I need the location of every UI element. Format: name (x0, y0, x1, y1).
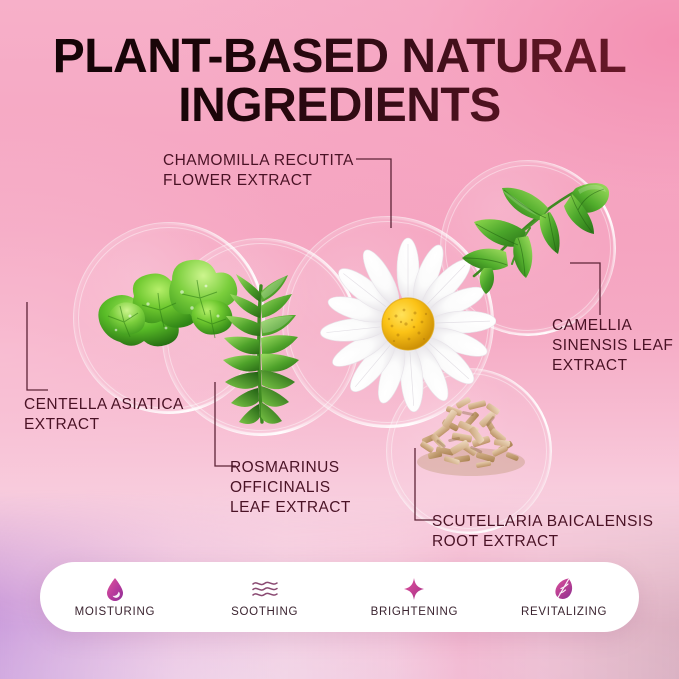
benefit-item-brightening[interactable]: BRIGHTENING (340, 577, 490, 618)
specimen-root-chips (406, 386, 536, 486)
benefit-item-moisturing[interactable]: MOISTURING (40, 577, 190, 618)
specimen-tea-leaves (452, 176, 610, 296)
leaf-icon (553, 577, 575, 601)
ingredient-label-scutellaria: SCUTELLARIA BAICALENSIS ROOT EXTRACT (432, 512, 672, 552)
page-title: PLANT-BASED NATURAL INGREDIENTS (0, 32, 679, 131)
benefit-label-brightening: BRIGHTENING (371, 606, 459, 618)
benefits-bar: MOISTURING SOOTHING (40, 562, 639, 632)
sparkle-icon (403, 577, 425, 601)
ingredient-poster: PLANT-BASED NATURAL INGREDIENTS (0, 0, 679, 679)
benefit-item-revitalizing[interactable]: REVITALIZING (489, 577, 639, 618)
ingredient-label-centella: CENTELLA ASIATICA EXTRACT (24, 395, 214, 435)
benefit-item-soothing[interactable]: SOOTHING (190, 577, 340, 618)
benefit-label-soothing: SOOTHING (231, 606, 298, 618)
water-drop-icon (105, 577, 125, 601)
ingredient-label-chamomilla: CHAMOMILLA RECUTITA FLOWER EXTRACT (163, 151, 363, 191)
ingredient-label-camellia: CAMELLIA SINENSIS LEAF EXTRACT (552, 316, 677, 376)
benefit-label-moisturing: MOISTURING (75, 606, 155, 618)
ingredient-label-rosmarinus: ROSMARINUS OFFICINALIS LEAF EXTRACT (230, 458, 380, 518)
specimen-rosemary-sprig (198, 272, 328, 432)
waves-icon (251, 577, 279, 601)
benefit-label-revitalizing: REVITALIZING (521, 606, 607, 618)
